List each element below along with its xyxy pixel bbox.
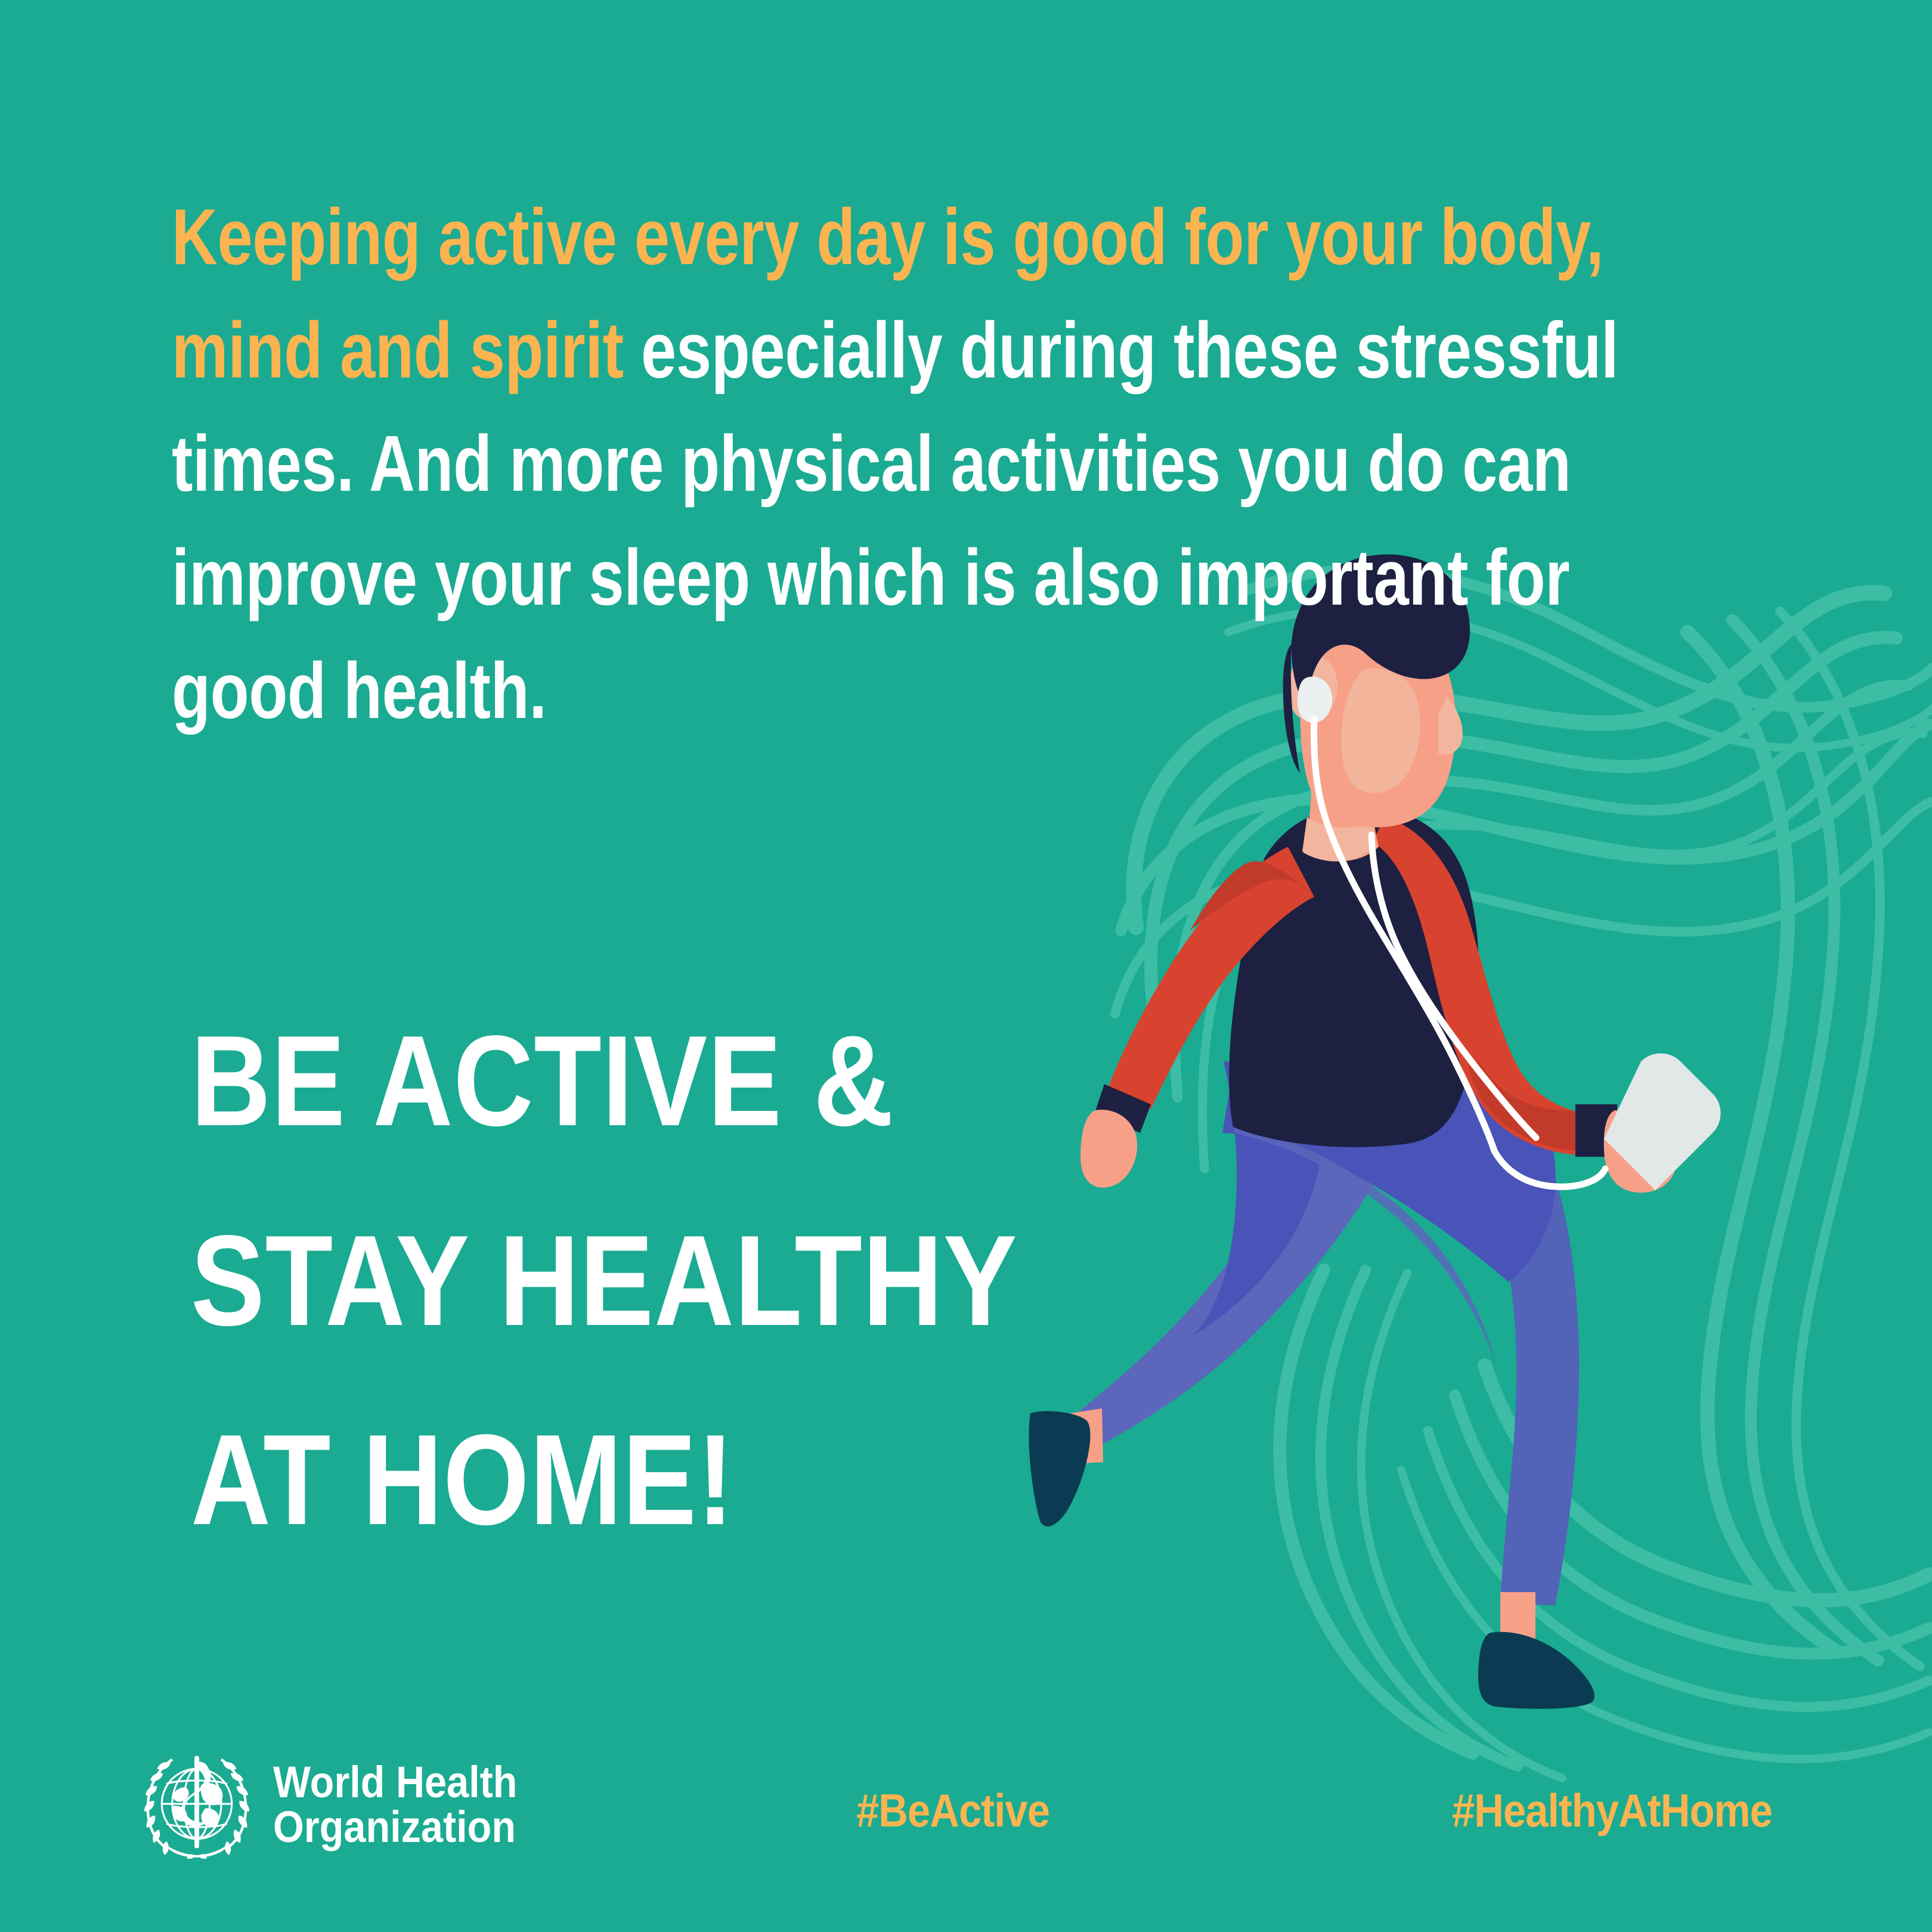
who-be-active-poster: Keeping active every day is good for you… — [0, 0, 1932, 1932]
headline-line-3: AT HOME! — [191, 1380, 1018, 1580]
page-title: BE ACTIVE & STAY HEALTHY AT HOME! — [191, 981, 1018, 1580]
who-wordmark: World Health Organization — [273, 1760, 517, 1850]
hashtag-be-active[interactable]: #BeActive — [856, 1784, 1049, 1838]
intro-paragraph: Keeping active every day is good for you… — [172, 181, 1708, 748]
hashtag-healthy-at-home[interactable]: #HealthyAtHome — [1452, 1784, 1772, 1838]
footer: World Health Organization #BeActive #Hea… — [0, 1744, 1932, 1932]
who-emblem-icon — [138, 1750, 255, 1859]
intro-highlight-secondary: mind and spirit — [172, 306, 624, 395]
who-wordmark-line-1: World Health — [273, 1760, 517, 1804]
headline-line-1: BE ACTIVE & — [191, 981, 1018, 1181]
who-wordmark-line-2: Organization — [273, 1804, 517, 1849]
back-shoe — [1029, 1411, 1090, 1527]
intro-highlight-primary: Keeping active every day is good for you… — [172, 193, 1603, 281]
front-shoe — [1478, 1632, 1594, 1709]
who-logo-lockup: World Health Organization — [138, 1750, 544, 1859]
headline-line-2: STAY HEALTHY — [191, 1181, 1018, 1380]
